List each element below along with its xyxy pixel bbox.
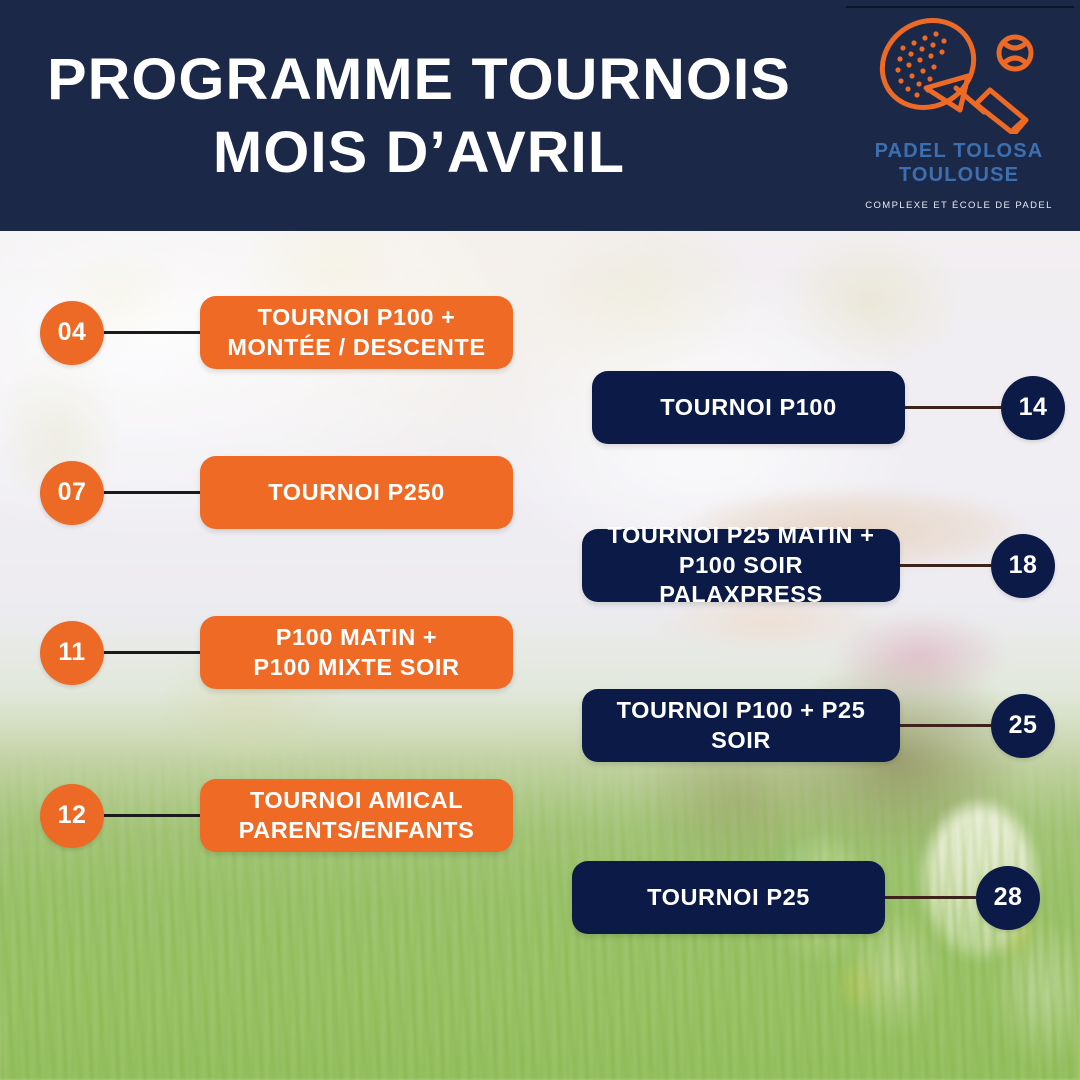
schedule-row-28[interactable]: TOURNOI P25 28 <box>572 861 1040 934</box>
connector-line <box>905 406 1001 409</box>
connector-line <box>900 724 991 727</box>
event-card-18-line-1: TOURNOI P25 MATIN + <box>607 522 874 548</box>
connector-line <box>885 896 976 899</box>
event-card-25-line-2: SOIR <box>711 727 771 753</box>
page-title-line-1: PROGRAMME TOURNOIS <box>47 47 791 112</box>
schedule-row-11[interactable]: 11 P100 MATIN + P100 MIXTE SOIR <box>40 616 513 689</box>
logo-brand-name-line-2: TOULOUSE <box>899 164 1019 186</box>
event-card-25-line-1: TOURNOI P100 + P25 <box>617 697 866 723</box>
connector-line <box>900 564 991 567</box>
day-badge-07[interactable]: 07 <box>40 461 104 525</box>
event-card-07-line-1: TOURNOI P250 <box>268 479 445 505</box>
event-card-14-line-1: TOURNOI P100 <box>660 394 837 420</box>
connector-line <box>104 491 200 494</box>
brand-logo: PADEL TOLOSA TOULOUSE COMPLEXE ET ÉCOLE … <box>838 0 1080 231</box>
schedule-row-14[interactable]: TOURNOI P100 14 <box>592 371 1065 444</box>
logo-brand-name: PADEL TOLOSA TOULOUSE <box>838 140 1080 187</box>
page-title: PROGRAMME TOURNOIS MOIS D’AVRIL <box>0 44 846 189</box>
event-card-04-line-1: TOURNOI P100 + <box>258 304 456 330</box>
schedule-row-07[interactable]: 07 TOURNOI P250 <box>40 456 513 529</box>
event-card-11-line-2: P100 MIXTE SOIR <box>253 654 459 680</box>
event-card-12[interactable]: TOURNOI AMICAL PARENTS/ENFANTS <box>200 779 513 852</box>
event-card-04-line-2: MONTÉE / DESCENTE <box>227 334 485 360</box>
event-card-07[interactable]: TOURNOI P250 <box>200 456 513 529</box>
event-card-28-line-1: TOURNOI P25 <box>647 884 810 910</box>
event-card-14[interactable]: TOURNOI P100 <box>592 371 905 444</box>
logo-tagline: COMPLEXE ET ÉCOLE DE PADEL <box>838 200 1080 211</box>
header-banner: PROGRAMME TOURNOIS MOIS D’AVRIL <box>0 0 1080 231</box>
schedule-row-18[interactable]: TOURNOI P25 MATIN + P100 SOIR PALAXPRESS… <box>582 529 1055 602</box>
day-badge-18[interactable]: 18 <box>991 534 1055 598</box>
page-title-line-2: MOIS D’AVRIL <box>0 117 846 190</box>
event-card-18[interactable]: TOURNOI P25 MATIN + P100 SOIR PALAXPRESS <box>582 529 900 602</box>
connector-line <box>104 814 200 817</box>
day-badge-11[interactable]: 11 <box>40 621 104 685</box>
schedule-row-12[interactable]: 12 TOURNOI AMICAL PARENTS/ENFANTS <box>40 779 513 852</box>
connector-line <box>104 651 200 654</box>
event-card-12-line-2: PARENTS/ENFANTS <box>239 817 475 843</box>
day-badge-12[interactable]: 12 <box>40 784 104 848</box>
event-card-25[interactable]: TOURNOI P100 + P25 SOIR <box>582 689 900 762</box>
event-card-12-line-1: TOURNOI AMICAL <box>250 787 463 813</box>
connector-line <box>104 331 200 334</box>
logo-brand-name-line-1: PADEL TOLOSA <box>875 140 1044 162</box>
schedule-row-25[interactable]: TOURNOI P100 + P25 SOIR 25 <box>582 689 1055 762</box>
logo-top-rule <box>846 6 1074 8</box>
day-badge-14[interactable]: 14 <box>1001 376 1065 440</box>
day-badge-25[interactable]: 25 <box>991 694 1055 758</box>
event-card-04[interactable]: TOURNOI P100 + MONTÉE / DESCENTE <box>200 296 513 369</box>
day-badge-28[interactable]: 28 <box>976 866 1040 930</box>
poster: PROGRAMME TOURNOIS MOIS D’AVRIL <box>0 0 1080 1080</box>
schedule-row-04[interactable]: 04 TOURNOI P100 + MONTÉE / DESCENTE <box>40 296 513 369</box>
event-card-18-line-2: P100 SOIR PALAXPRESS <box>659 552 823 607</box>
day-badge-04[interactable]: 04 <box>40 301 104 365</box>
event-card-11-line-1: P100 MATIN + <box>276 624 438 650</box>
event-card-28[interactable]: TOURNOI P25 <box>572 861 885 934</box>
event-card-11[interactable]: P100 MATIN + P100 MIXTE SOIR <box>200 616 513 689</box>
padel-racket-and-ball-icon <box>864 16 1054 134</box>
